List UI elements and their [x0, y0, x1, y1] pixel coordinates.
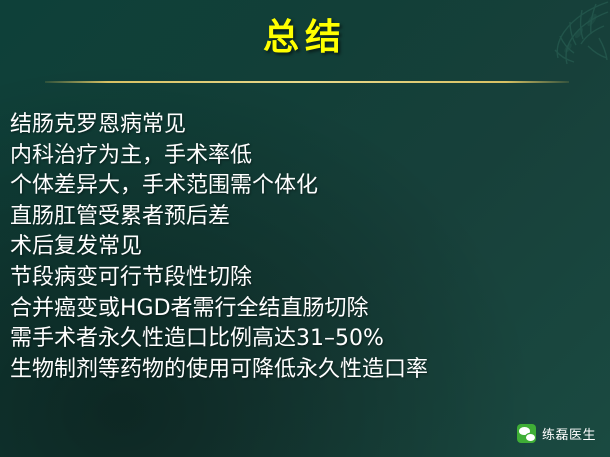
wechat-icon	[517, 424, 536, 443]
list-item: 个体差异大，手术范围需个体化	[10, 171, 600, 202]
slide-title-container: 总结	[0, 16, 610, 60]
list-item: 术后复发常见	[10, 232, 600, 263]
list-item: 节段病变可行节段性切除	[10, 263, 600, 294]
presentation-slide: 总结 结肠克罗恩病常见 内科治疗为主，手术率低 个体差异大，手术范围需个体化 直…	[0, 0, 610, 457]
list-item: 需手术者永久性造口比例高达31–50%	[10, 324, 600, 355]
wechat-account-name: 练磊医生	[542, 424, 596, 443]
list-item: 直肠肛管受累者预后差	[10, 202, 600, 233]
list-item: 合并癌变或HGD者需行全结直肠切除	[10, 294, 600, 325]
list-item: 内科治疗为主，手术率低	[10, 141, 600, 172]
title-divider	[45, 81, 569, 83]
page-title: 总结	[263, 16, 347, 60]
list-item: 结肠克罗恩病常见	[10, 110, 600, 141]
wechat-account-badge: 练磊医生	[517, 424, 596, 443]
list-item: 生物制剂等药物的使用可降低永久性造口率	[10, 355, 600, 386]
bullet-list: 结肠克罗恩病常见 内科治疗为主，手术率低 个体差异大，手术范围需个体化 直肠肛管…	[10, 110, 600, 385]
